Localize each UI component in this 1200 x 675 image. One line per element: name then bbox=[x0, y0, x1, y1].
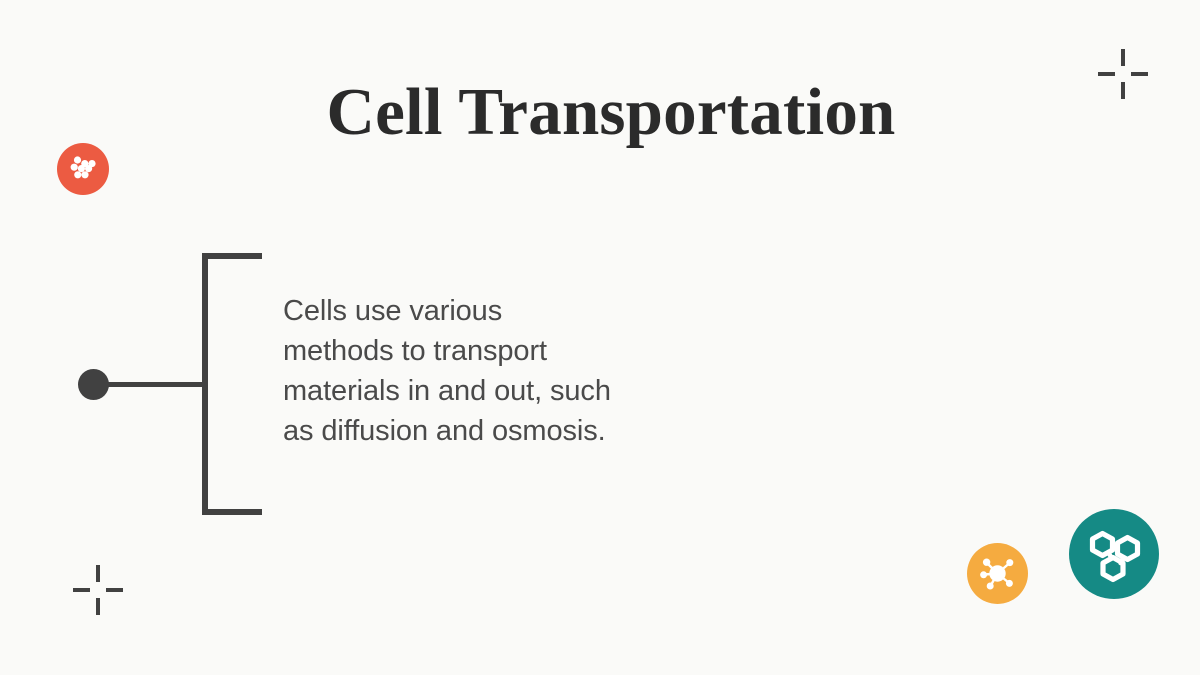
crosshair-bar-right bbox=[1131, 72, 1148, 76]
crosshair-bar-left bbox=[73, 588, 90, 592]
crosshair-top-right-icon bbox=[1098, 49, 1148, 99]
crosshair-bar-up bbox=[96, 565, 100, 582]
hexagon-rings-icon bbox=[1069, 509, 1159, 599]
crosshair-bar-right bbox=[106, 588, 123, 592]
crosshair-bar-down bbox=[1121, 82, 1125, 99]
atom-icon bbox=[967, 543, 1028, 604]
bracket-connector bbox=[60, 240, 290, 530]
molecule-cluster-badge bbox=[57, 143, 109, 195]
crosshair-bar-left bbox=[1098, 72, 1115, 76]
bracket-arm-top bbox=[202, 253, 262, 259]
body-text: Cells use various methods to transport m… bbox=[283, 291, 613, 451]
crosshair-bar-up bbox=[1121, 49, 1125, 66]
molecule-cluster-icon bbox=[57, 143, 109, 195]
bullet-node-dot bbox=[78, 369, 109, 400]
crosshair-bar-down bbox=[96, 598, 100, 615]
slide-canvas: Cell Transportation Cells use various me… bbox=[0, 0, 1200, 675]
page-title: Cell Transportation bbox=[0, 79, 1200, 146]
atom-badge bbox=[967, 543, 1028, 604]
bracket-arm-bottom bbox=[202, 509, 262, 515]
crosshair-bottom-left-icon bbox=[73, 565, 123, 615]
hexagon-rings-badge bbox=[1069, 509, 1159, 599]
connector-stem-line bbox=[93, 382, 205, 387]
